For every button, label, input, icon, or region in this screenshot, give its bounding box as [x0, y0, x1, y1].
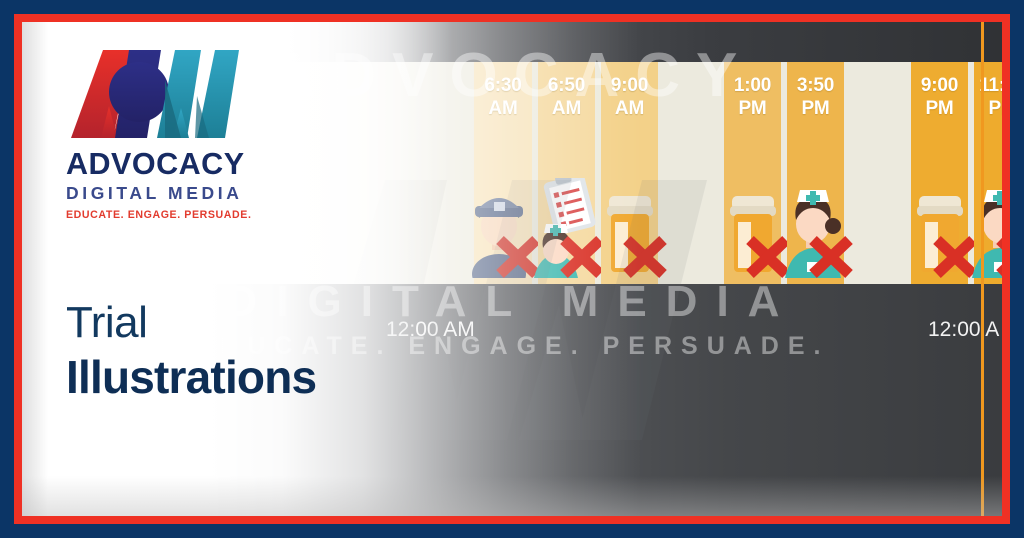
- timeline-event-column[interactable]: 9:00AM: [601, 62, 658, 284]
- timeline-event-meridiem: PM: [925, 98, 953, 119]
- slide-frame: 6:30AM6:50AM9:00AM1:00PM3:50PM9:00PM11:0…: [0, 0, 1024, 538]
- timeline-event-time: 1:00PM: [724, 74, 781, 120]
- timeline-event-time: 9:00AM: [601, 74, 658, 120]
- timeline-event-column[interactable]: 6:50AM: [538, 62, 595, 284]
- slide-stage: 6:30AM6:50AM9:00AM1:00PM3:50PM9:00PM11:0…: [22, 22, 1002, 516]
- timeline-axis-line: [981, 22, 984, 516]
- timeline-event-meridiem: AM: [552, 98, 581, 119]
- timeline-event-time-value: 6:50: [548, 75, 585, 96]
- timeline-event-time-value: 3:50: [797, 75, 834, 96]
- timeline-start-label: 12:00 AM: [386, 318, 475, 342]
- timeline-event-column[interactable]: 3:50PM: [787, 62, 844, 284]
- timeline-event-time-value: 1:00: [734, 75, 771, 96]
- timeline-event-time: 6:30AM: [474, 74, 532, 120]
- pill-bottle-icon: [593, 178, 667, 278]
- timeline-event-meridiem: AM: [488, 98, 517, 119]
- timeline-event-time: 9:00PM: [911, 74, 968, 120]
- timeline-event-meridiem: PM: [801, 98, 829, 119]
- timeline-event-time-value: 9:00: [611, 75, 648, 96]
- timeline-event-meridiem: PM: [988, 98, 1002, 119]
- timeline-event-time: 11:00PM: [974, 74, 1002, 120]
- timeline-event-time-value: 9:00: [921, 75, 958, 96]
- timeline-event-column[interactable]: 11:00PM: [974, 62, 1002, 284]
- timeline-bottom-band: [22, 284, 1002, 516]
- timeline-event-time: 6:50AM: [538, 74, 595, 120]
- timeline-event-column[interactable]: 6:30AM: [474, 62, 532, 284]
- timeline-graphic: 6:30AM6:50AM9:00AM1:00PM3:50PM9:00PM11:0…: [22, 22, 1002, 516]
- timeline-event-column[interactable]: 1:00PM: [724, 62, 781, 284]
- timeline-event-meridiem: AM: [615, 98, 644, 119]
- timeline-end-label: 12:00 A: [928, 318, 999, 342]
- timeline-top-band: [22, 22, 1002, 62]
- timeline-event-column[interactable]: 9:00PM: [911, 62, 968, 284]
- timeline-event-meridiem: PM: [738, 98, 766, 119]
- nurse-icon: [779, 178, 853, 278]
- timeline-event-time-value: 6:30: [484, 75, 521, 96]
- timeline-event-time: 3:50PM: [787, 74, 844, 120]
